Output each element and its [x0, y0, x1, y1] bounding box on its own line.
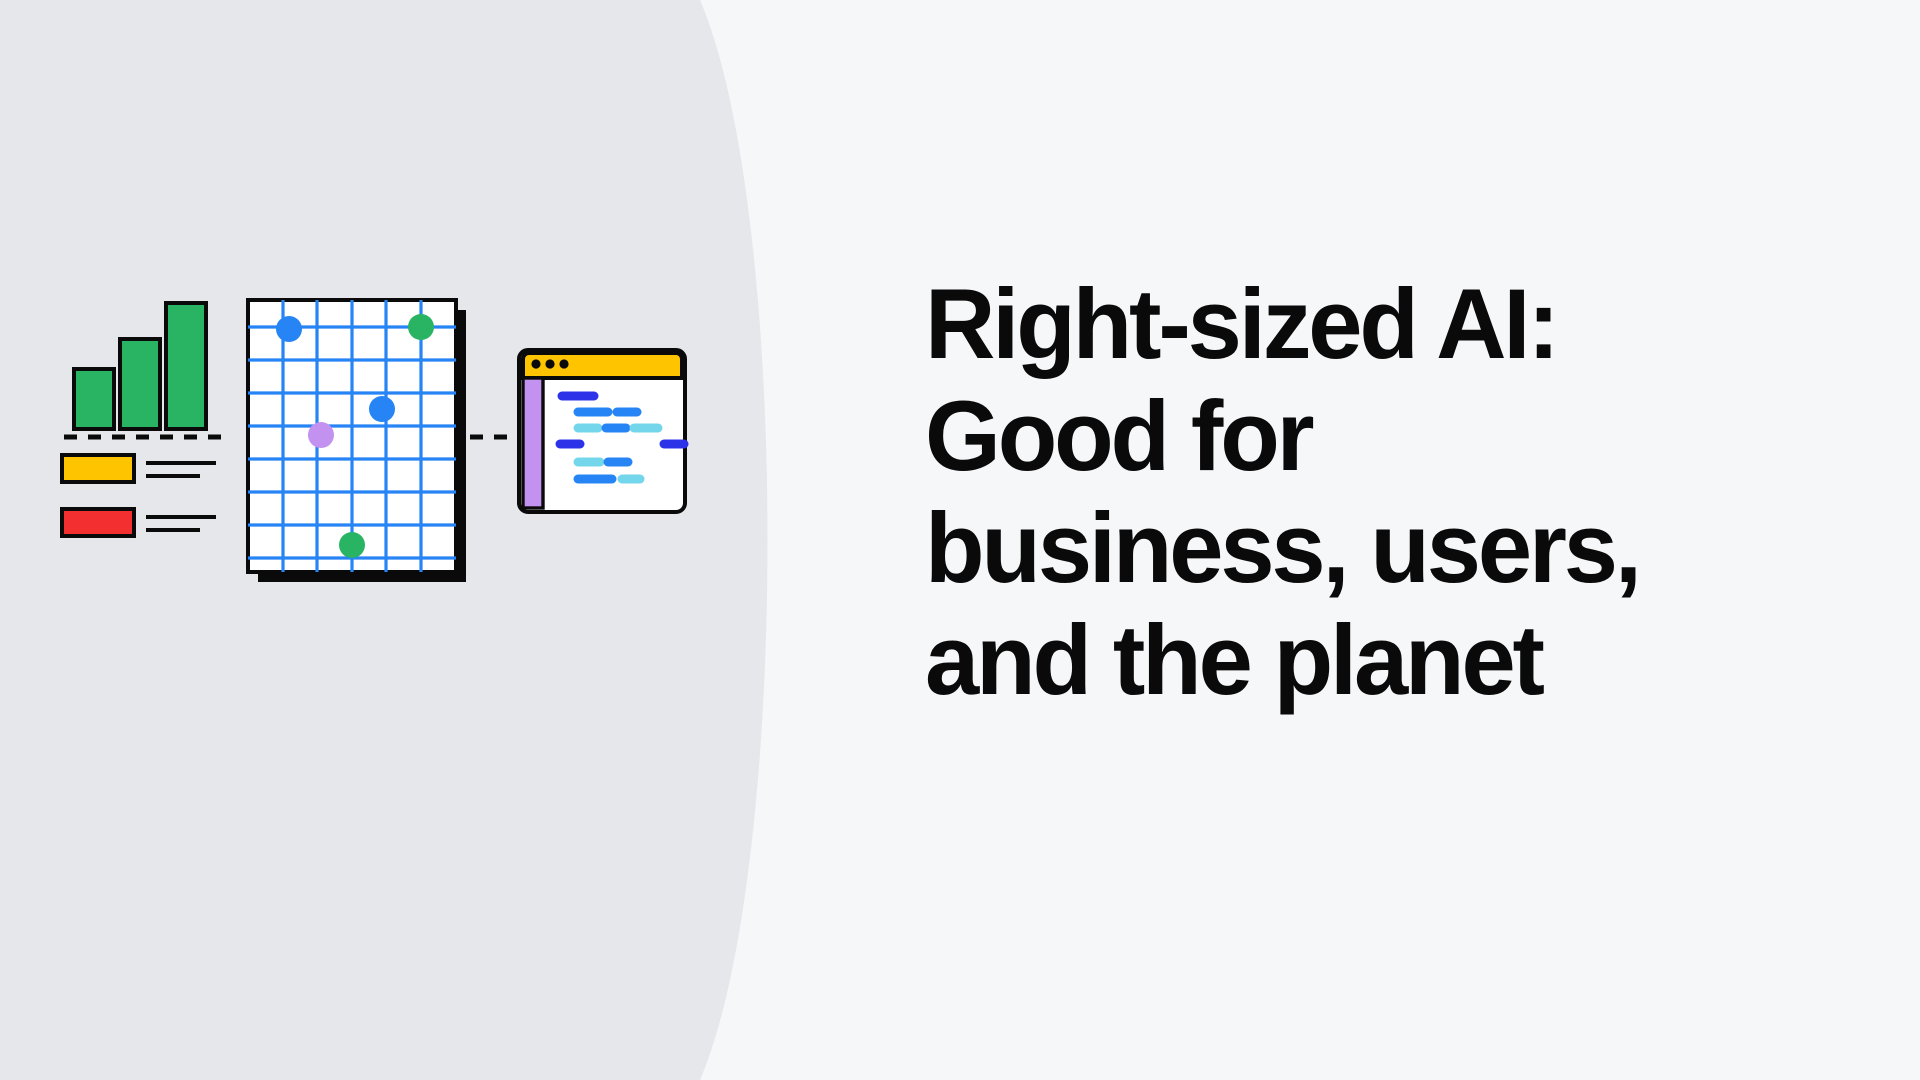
editor-sidebar [523, 378, 543, 508]
window-dot-icon [559, 359, 568, 368]
headline-line-4: and the planet [925, 604, 1792, 716]
headline-line-1: Right-sized AI: [925, 268, 1792, 380]
headline-line-2: Good for [925, 380, 1792, 492]
data-point-blue [276, 316, 302, 342]
legend-swatches [62, 455, 216, 536]
hero-illustration [0, 0, 900, 1080]
headline-line-3: business, users, [925, 492, 1792, 604]
ascending-bar-chart [64, 303, 228, 437]
data-point-blue [369, 396, 395, 422]
data-point-green [339, 532, 365, 558]
window-dot-icon [545, 359, 554, 368]
page-title: Right-sized AI: Good for business, users… [925, 268, 1805, 716]
window-dot-icon [531, 359, 540, 368]
data-point-purple [308, 422, 334, 448]
legend-item-critical [62, 509, 216, 536]
legend-item-warning [62, 455, 216, 482]
code-editor-window [519, 350, 685, 512]
page-root: Right-sized AI: Good for business, users… [0, 0, 1920, 1080]
scatter-grid-chart [248, 300, 466, 582]
data-point-green [408, 314, 434, 340]
